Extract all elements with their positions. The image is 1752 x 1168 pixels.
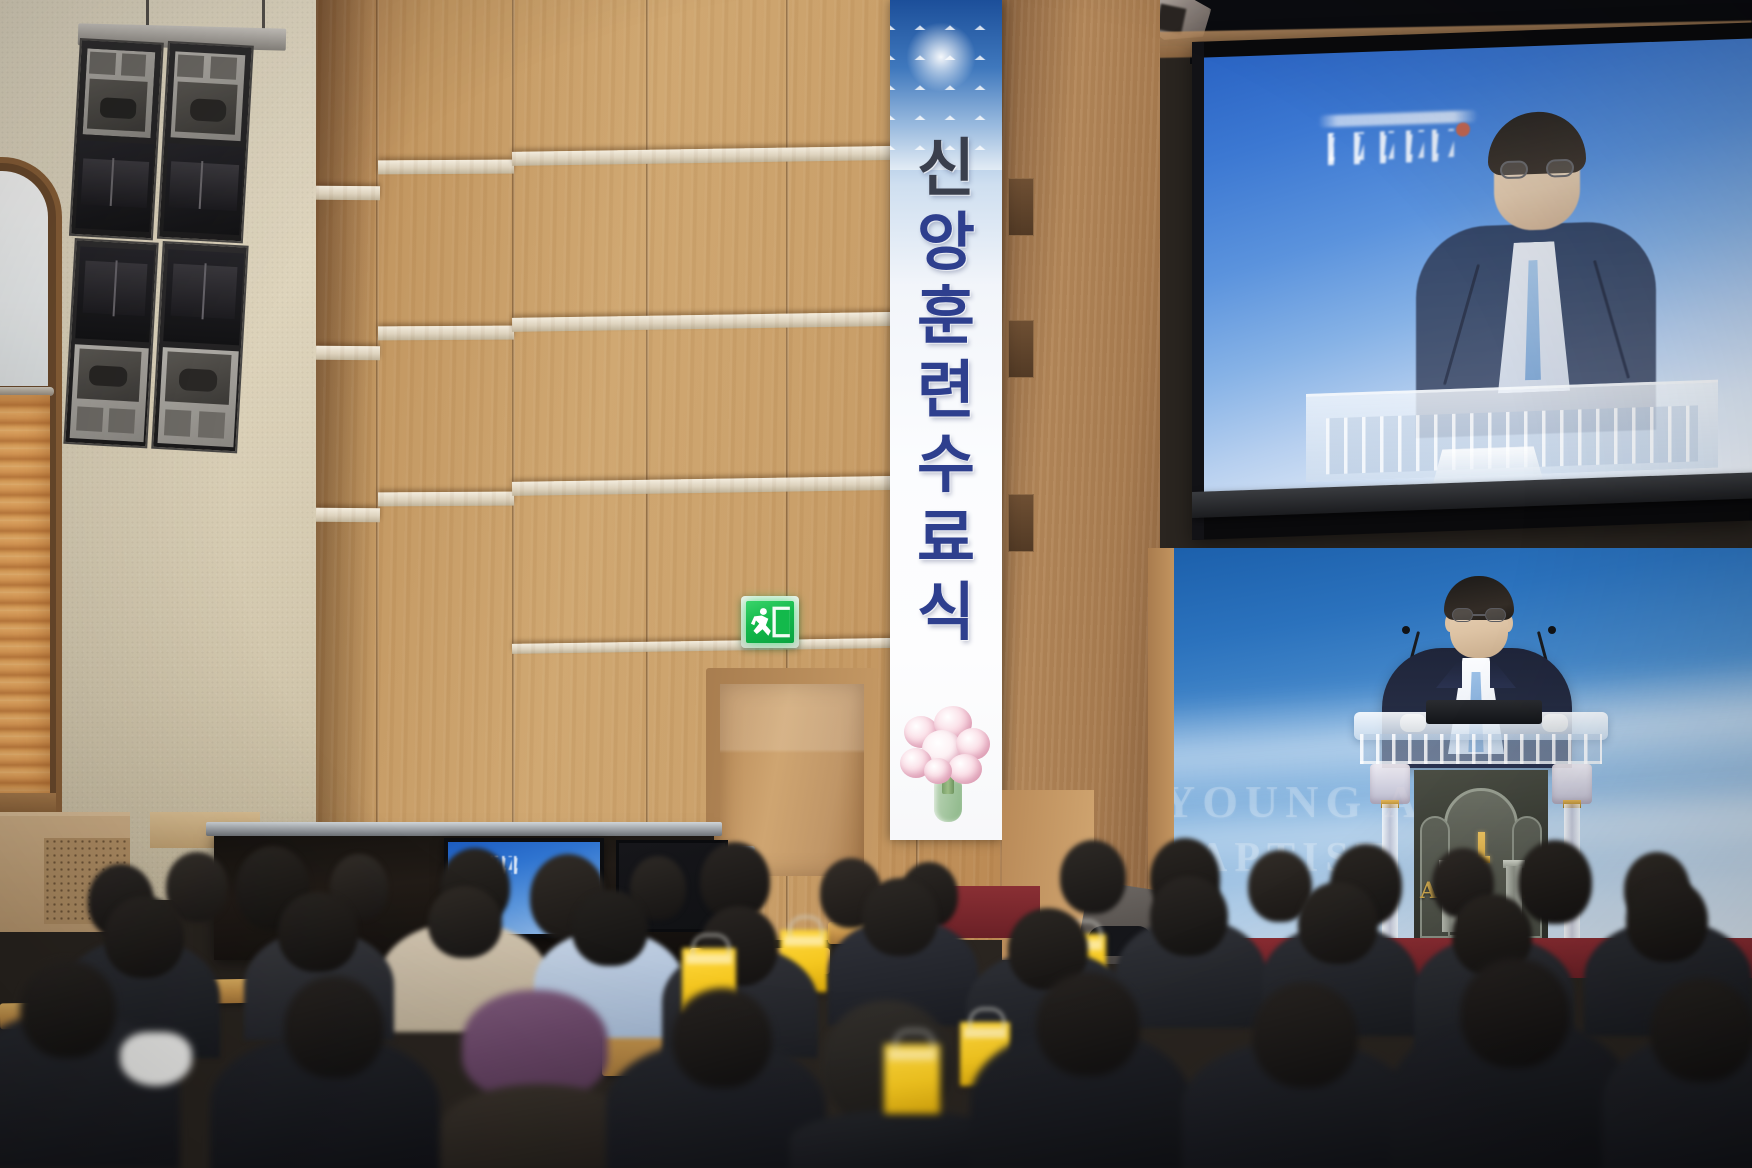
church-ceremony-photo: 신 앙 훈 련 수 료 식 — [0, 0, 1752, 1168]
banner-char-3: 훈 — [890, 280, 1002, 354]
banner-char-1: 신 — [890, 132, 1002, 206]
banner-char-4: 련 — [890, 354, 1002, 428]
projected-preacher-glasses — [1500, 159, 1574, 180]
banner-char-5: 수 — [890, 428, 1002, 502]
pulpit-equipment-box — [1426, 700, 1542, 724]
yellow-gift-bag — [884, 1044, 940, 1114]
audience-head — [1650, 978, 1752, 1082]
logo-caption-line — [1318, 110, 1478, 128]
column-vent-slot — [1008, 494, 1034, 552]
wall-divider-strip — [378, 160, 514, 175]
speaker-suspension-chain — [262, 0, 265, 30]
projected-image — [1198, 38, 1752, 500]
microphone-capsule-icon — [1548, 626, 1556, 634]
logo-seal-dot-icon — [1456, 122, 1470, 136]
column-vent-slot — [1008, 320, 1034, 378]
pulpit-reeded-band — [1360, 734, 1602, 764]
pulpit-column-capital — [1370, 764, 1410, 804]
panel-seam — [376, 0, 379, 940]
audience-head — [1460, 958, 1570, 1068]
audience-head — [1298, 882, 1378, 964]
right-wood-column — [1000, 0, 1160, 900]
audience-head — [572, 890, 648, 966]
banner-flower-photo — [894, 694, 998, 822]
panel-seam — [512, 0, 515, 940]
running-man-exit-icon — [746, 601, 794, 643]
overhead-projection-screen — [1192, 22, 1752, 540]
arched-window-with-blinds — [0, 163, 56, 823]
audience-head — [284, 976, 384, 1078]
microphone-capsule-icon — [1402, 626, 1410, 634]
window-blind — [0, 395, 50, 795]
pulpit-column-capital — [1552, 764, 1592, 804]
banner-char-6: 료 — [890, 502, 1002, 576]
flower-petal — [924, 758, 952, 784]
audience-head — [672, 988, 772, 1088]
audience-head — [20, 960, 116, 1058]
preacher-glasses-icon — [1452, 608, 1506, 622]
audience-head — [1060, 840, 1126, 914]
screen-left-edge — [1192, 42, 1204, 540]
window-glass — [0, 171, 48, 386]
ceiling-rig-bracket — [1156, 4, 1187, 35]
face-mask — [120, 1032, 192, 1086]
wall-divider-strip — [378, 326, 514, 341]
logo-script-mark — [1324, 129, 1456, 166]
column-vent-slot — [1008, 178, 1034, 236]
vertical-ceremony-banner: 신 앙 훈 련 수 료 식 — [890, 0, 1002, 840]
audience-head — [1518, 840, 1592, 924]
audience-head — [1626, 878, 1708, 962]
banner-text: 신 앙 훈 련 수 료 식 — [890, 132, 1002, 650]
audience-head — [862, 878, 938, 956]
wall-shadow — [316, 0, 378, 940]
projected-church-logo — [1318, 110, 1478, 176]
wall-divider-strip — [378, 492, 514, 507]
wall-divider-strip — [316, 346, 380, 361]
audience-head — [428, 886, 502, 958]
flower-petal — [948, 754, 982, 784]
emergency-exit-sign — [741, 596, 799, 648]
audience-head — [1252, 982, 1358, 1088]
piano-lid-edge — [206, 822, 722, 836]
banner-char-7: 식 — [890, 576, 1002, 650]
purple-beanie-hat — [462, 990, 608, 1098]
wall-divider-strip — [316, 508, 380, 523]
audience-head — [278, 892, 358, 972]
audience-head — [104, 896, 184, 978]
audience-head — [1036, 972, 1140, 1076]
audience-head — [1150, 876, 1228, 956]
banner-char-2: 앙 — [890, 206, 1002, 280]
banner-glow — [906, 22, 976, 92]
wall-divider-strip — [316, 186, 380, 201]
hanging-line-array-speakers — [57, 38, 256, 459]
panel-seam — [646, 0, 649, 940]
